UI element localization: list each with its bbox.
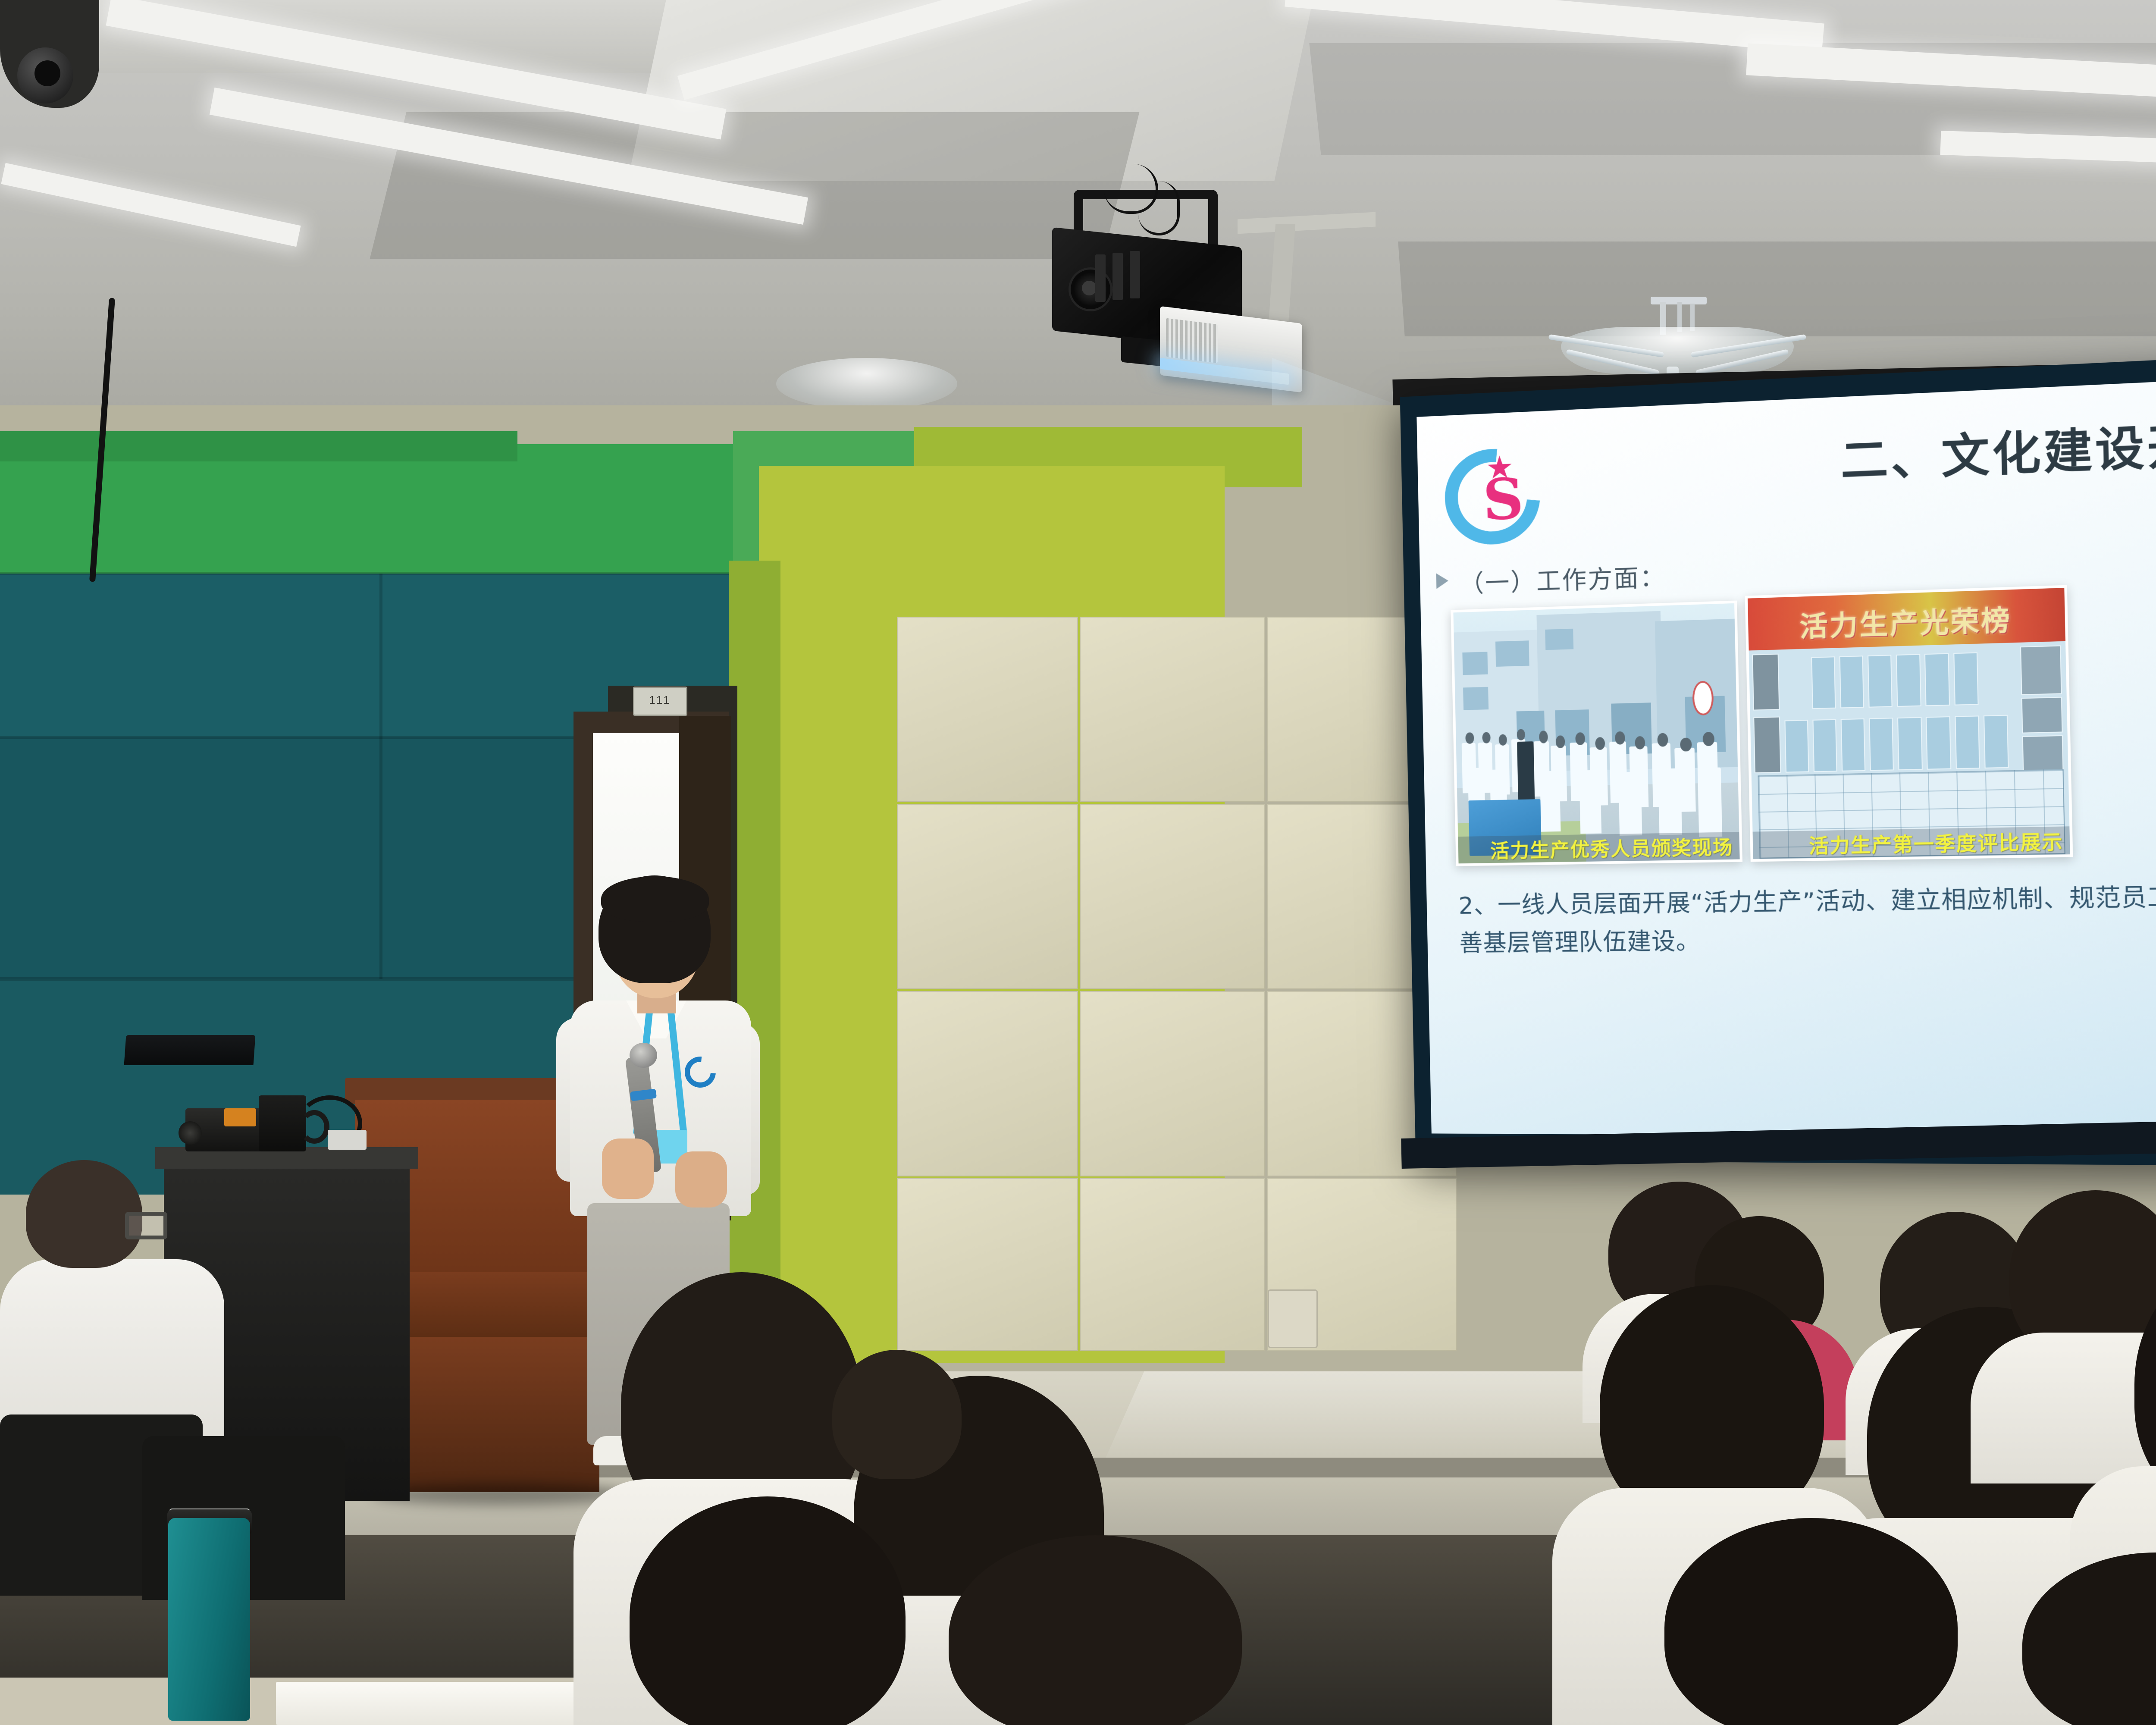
projection-screen: ★ S 二、文化建设开展情况 （一）工作方面：	[1400, 348, 2156, 1167]
microphone-head-icon	[630, 1043, 657, 1068]
honor-board-banner-text: 活力生产光荣榜	[1773, 597, 2040, 646]
slide-title: 二、文化建设开展情况	[1840, 400, 2156, 491]
acoustic-panel-wall	[897, 617, 1457, 1350]
logo-s-mark: S	[1482, 470, 1524, 528]
thermos-bottle-foreground[interactable]	[168, 1518, 250, 1721]
presenter-shirt-logo-icon	[685, 1057, 717, 1081]
company-logo: ★ S	[1444, 443, 1536, 538]
ceiling-light-diffuser	[776, 358, 957, 410]
ceiling-light-slot-6	[1940, 131, 2156, 178]
left-photo-caption: 活力生产优秀人员颁奖现场	[1490, 831, 1739, 863]
presenter-left-hand	[602, 1138, 654, 1199]
wall-panel-green-upper	[0, 444, 759, 574]
left-photo-caption-band: 活力生产优秀人员颁奖现场	[1458, 832, 1739, 863]
presentation-slide: ★ S 二、文化建设开展情况 （一）工作方面：	[1416, 371, 2156, 1138]
room-number-text: 111	[634, 688, 686, 712]
room-number-sign: 111	[633, 687, 687, 716]
ceiling-light-slot-8	[1, 163, 301, 247]
stage-light-cable-2	[1138, 181, 1180, 235]
slide-photo-honor-board: 活力生产光荣榜	[1745, 585, 2073, 862]
ceiling-corner-device	[0, 0, 103, 160]
slide-subtitle: （一）工作方面：	[1459, 557, 1666, 600]
papers-left-table[interactable]	[276, 1682, 604, 1725]
laptop-on-podium[interactable]	[124, 1035, 256, 1065]
slide-body-text: 2、一线人员层面开展“活力生产”活动、建立相应机制、规范员工生产操作、完善基层管…	[1458, 875, 2156, 963]
presenter-fringe	[601, 876, 709, 922]
wall-seam	[0, 977, 604, 981]
wall-seam-vertical	[379, 574, 382, 979]
power-adapter	[328, 1130, 367, 1150]
presenter-right-hand	[675, 1151, 727, 1207]
conference-room-photo: 111 ★ S 二、文化建设开展情况 （一）工作方面：	[0, 0, 2156, 1725]
eyeglasses-icon	[125, 1212, 167, 1239]
wall-power-outlet[interactable]	[1268, 1289, 1318, 1348]
right-photo-caption-band: 活力生产第一季度评比展示	[1753, 826, 2070, 859]
wall-panel-green-top	[0, 431, 517, 461]
right-photo-caption: 活力生产第一季度评比展示	[1808, 826, 2070, 859]
slide-photo-employee-assembly: 活力生产优秀人员颁奖现场	[1451, 601, 1742, 866]
bullet-triangle-icon	[1436, 573, 1449, 589]
camera-orange-strap	[224, 1108, 256, 1126]
ceiling-recess-left	[370, 112, 1140, 259]
camera-lens-icon	[179, 1121, 202, 1145]
